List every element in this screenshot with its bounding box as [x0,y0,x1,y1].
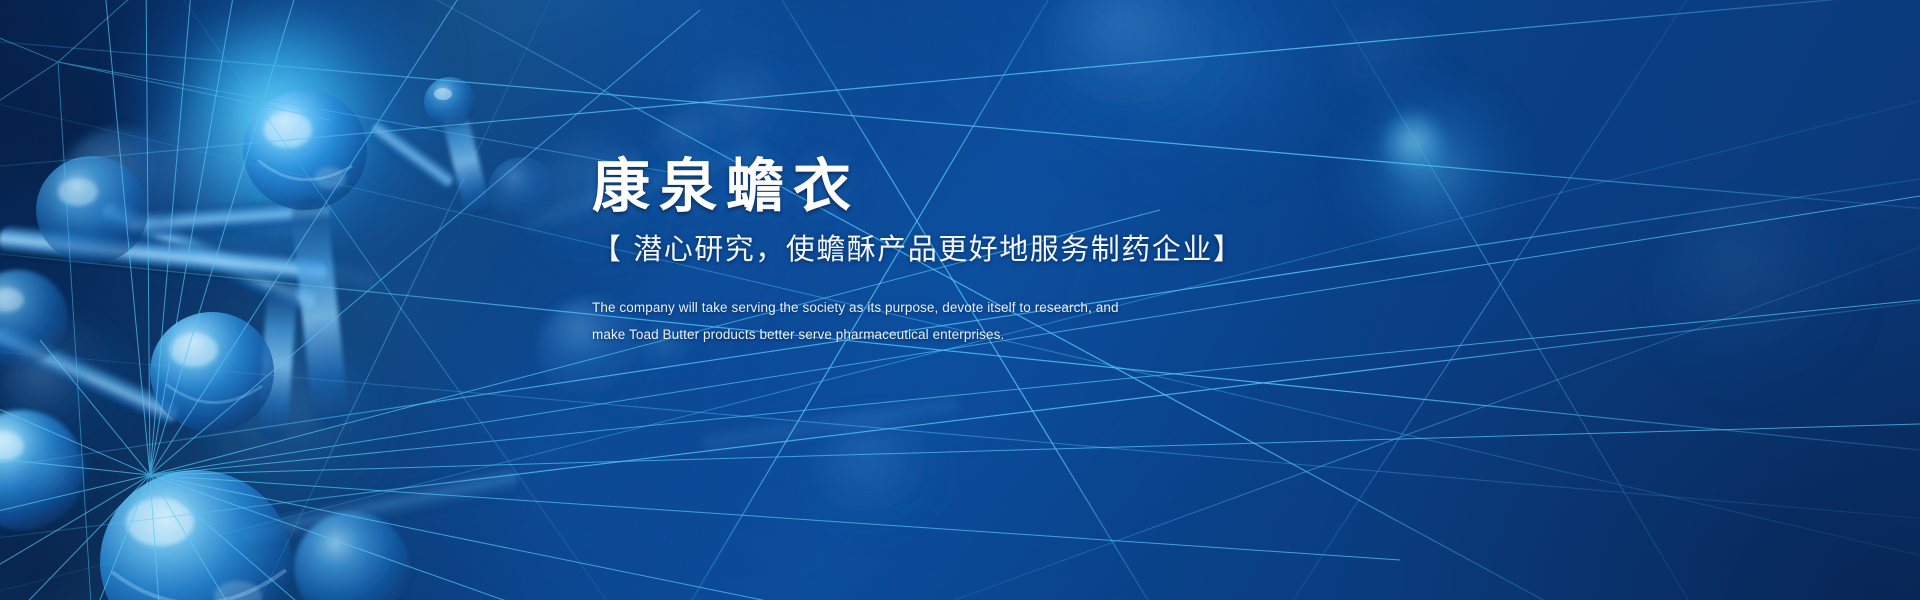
secondary-convergence-point [0,0,690,600]
banner-title: 康泉蟾衣 [592,152,1492,220]
banner-description-line-1: The company will take serving the societ… [592,294,1492,321]
banner-text-block: 康泉蟾衣 【 潜心研究，使蟾酥产品更好地服务制药企业】 The company … [592,152,1492,348]
banner-subtitle: 【 潜心研究，使蟾酥产品更好地服务制药企业】 [592,228,1492,272]
banner-description-line-2: make Toad Butter products better serve p… [592,321,1492,348]
banner-description: The company will take serving the societ… [592,294,1492,348]
hero-banner: 康泉蟾衣 【 潜心研究，使蟾酥产品更好地服务制药企业】 The company … [0,0,1920,600]
